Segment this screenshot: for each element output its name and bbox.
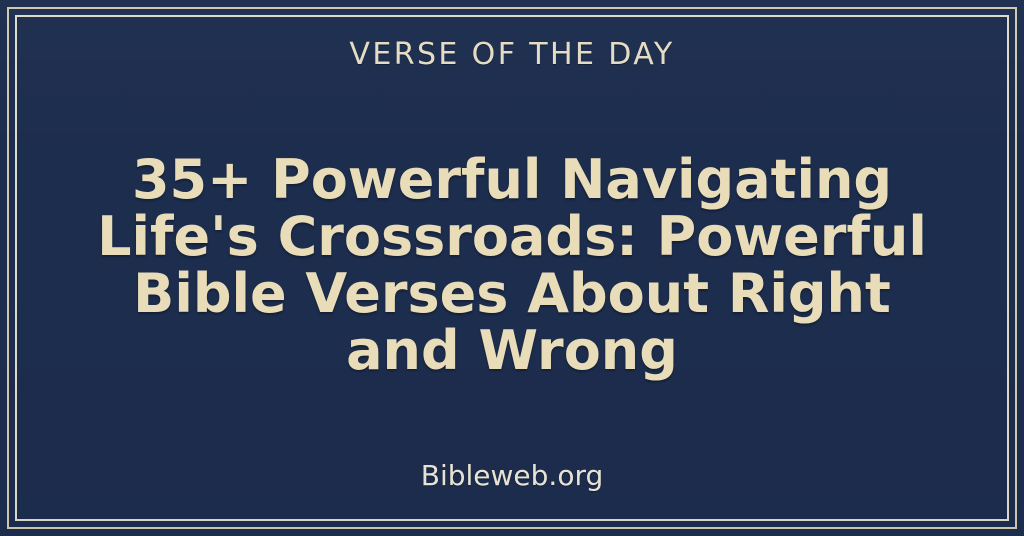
eyebrow-label: VERSE OF THE DAY — [349, 38, 674, 71]
title-area: 35+ Powerful Navigating Life's Crossroad… — [22, 71, 1002, 460]
page-title: 35+ Powerful Navigating Life's Crossroad… — [97, 151, 927, 379]
verse-of-the-day-card: VERSE OF THE DAY 35+ Powerful Navigating… — [0, 0, 1024, 536]
card-content: VERSE OF THE DAY 35+ Powerful Navigating… — [22, 22, 1002, 514]
site-attribution: Bibleweb.org — [421, 460, 604, 492]
